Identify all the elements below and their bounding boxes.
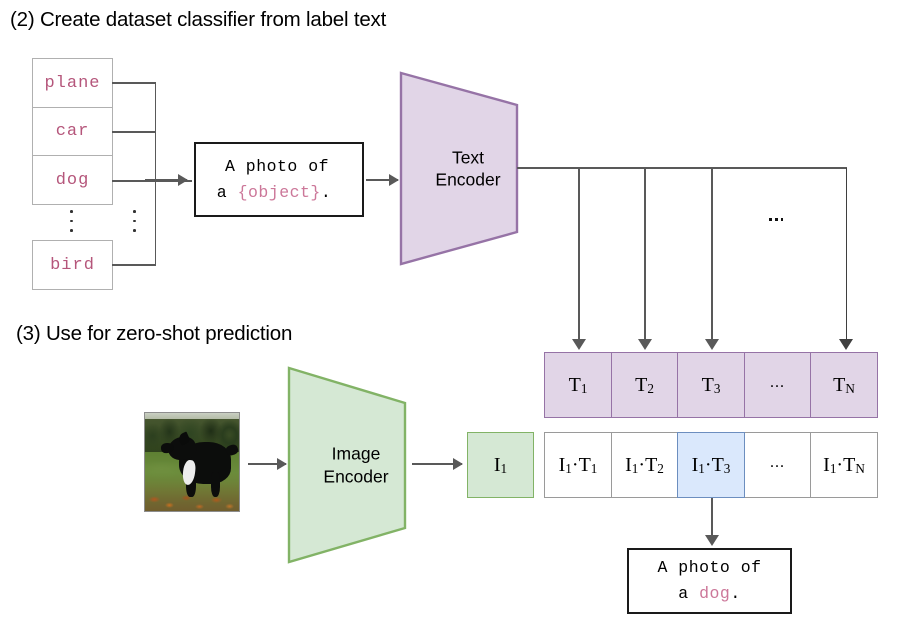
image-embedding-symbol: I — [494, 454, 501, 477]
cell-subscript: 2 — [647, 381, 654, 397]
photo-dog-leg — [211, 472, 220, 497]
arrow-similarity-to-prediction — [711, 498, 713, 536]
cell-right-sub: N — [855, 461, 865, 477]
text-encoder-label-line2: Encoder — [416, 169, 520, 192]
text-embedding-cell-ellipsis: ... — [744, 352, 812, 418]
cell-right: T — [579, 454, 591, 477]
arrow-labels-to-prompt — [145, 179, 187, 181]
label-list-ellipsis-right — [133, 210, 136, 232]
prediction-box: A photo of a dog. — [627, 548, 792, 614]
image-encoder-label-line2: Encoder — [304, 465, 408, 488]
dot — [70, 229, 73, 232]
cell-op: · — [638, 454, 645, 477]
cell-ellipsis: ... — [770, 374, 785, 392]
cell-left-sub: 1 — [632, 461, 639, 477]
prompt-line-2: a {object}. — [217, 180, 331, 206]
cell-right-sub: 1 — [591, 461, 598, 477]
prediction-prefix: a — [678, 584, 699, 603]
text-encoder-output-bus — [517, 167, 847, 169]
cell-ellipsis: ... — [770, 454, 785, 472]
prediction-line-2: a dog. — [678, 581, 740, 607]
prediction-suffix: . — [730, 584, 740, 603]
dot — [781, 218, 784, 221]
label-text: plane — [44, 74, 100, 93]
similarity-cell-ellipsis: ... — [744, 432, 812, 498]
image-encoder-label: Image Encoder — [286, 442, 408, 488]
image-encoder-shape: Image Encoder — [286, 365, 408, 565]
cell-left: I — [692, 454, 699, 477]
prompt-template-box: A photo of a {object}. — [194, 142, 364, 217]
cell-right: T — [645, 454, 657, 477]
label-connector-plane — [112, 82, 156, 84]
prompt-line-1: A photo of — [225, 154, 329, 180]
cell-symbol: T — [569, 374, 581, 397]
arrow-bus-to-t2 — [644, 168, 646, 340]
prediction-word: dog — [699, 584, 730, 603]
text-encoder-shape: Text Encoder — [398, 70, 520, 267]
arrow-image-encoder-to-embedding — [412, 463, 462, 465]
label-bus-spine-lower — [155, 131, 157, 266]
label-connector-bird — [112, 264, 156, 266]
cell-right-sub: 2 — [657, 461, 664, 477]
text-encoder-label-line1: Text — [416, 146, 520, 169]
arrow-bus-to-tn — [846, 168, 848, 340]
cell-left: I — [823, 454, 830, 477]
text-embedding-cell: T2 — [611, 352, 679, 418]
label-box-bird: bird — [32, 240, 113, 290]
bus-ellipsis — [769, 218, 783, 221]
arrow-bus-to-t3 — [711, 168, 713, 340]
image-embedding-subscript: 1 — [501, 461, 508, 477]
cell-right: T — [712, 454, 724, 477]
image-embedding-box: I1 — [467, 432, 534, 498]
dot — [70, 210, 73, 213]
image-encoder-label-line1: Image — [304, 442, 408, 465]
dot — [133, 220, 136, 223]
text-embedding-cell: TN — [810, 352, 878, 418]
similarity-cell-highlighted: I1·T3 — [677, 432, 745, 498]
label-box-plane: plane — [32, 58, 113, 108]
cell-op: · — [572, 454, 579, 477]
cell-left: I — [559, 454, 566, 477]
cell-subscript: 1 — [581, 381, 588, 397]
label-box-car: car — [32, 107, 113, 157]
similarity-cell: I1·TN — [810, 432, 878, 498]
cell-left-sub: 1 — [565, 461, 572, 477]
text-embedding-cell: T3 — [677, 352, 745, 418]
dot — [775, 218, 778, 221]
text-encoder-label: Text Encoder — [398, 146, 520, 192]
cell-symbol: T — [635, 374, 647, 397]
prompt-suffix: . — [321, 183, 331, 202]
label-connector-car — [112, 131, 156, 133]
similarity-row: I1·T1 I1·T2 I1·T3 ... I1·TN — [544, 432, 878, 498]
similarity-cell: I1·T1 — [544, 432, 612, 498]
cell-op: · — [705, 454, 712, 477]
text-embedding-cell: T1 — [544, 352, 612, 418]
cell-left-sub: 1 — [698, 461, 705, 477]
cell-op: · — [836, 454, 843, 477]
cell-right-sub: 3 — [724, 461, 731, 477]
dot — [133, 210, 136, 213]
cell-symbol: T — [833, 374, 845, 397]
cell-left-sub: 1 — [830, 461, 837, 477]
arrow-photo-to-image-encoder — [248, 463, 286, 465]
similarity-cell: I1·T2 — [611, 432, 679, 498]
text-embeddings-row: T1 T2 T3 ... TN — [544, 352, 878, 418]
prediction-line-1: A photo of — [657, 555, 761, 581]
cell-right: T — [843, 454, 855, 477]
dot — [133, 229, 136, 232]
label-box-dog: dog — [32, 155, 113, 205]
label-list-ellipsis-left — [70, 210, 73, 232]
arrow-bus-to-t1 — [578, 168, 580, 340]
dot — [769, 218, 772, 221]
cell-symbol: T — [702, 374, 714, 397]
label-text: dog — [56, 171, 90, 190]
input-image-thumbnail — [144, 412, 240, 512]
dot — [70, 220, 73, 223]
label-text: car — [56, 122, 90, 141]
label-bus-spine-upper — [155, 82, 157, 132]
section-3-heading: (3) Use for zero-shot prediction — [16, 322, 292, 346]
cell-left: I — [625, 454, 632, 477]
arrow-prompt-to-text-encoder — [366, 179, 398, 181]
section-2-heading: (2) Create dataset classifier from label… — [10, 8, 386, 32]
label-text: bird — [50, 256, 95, 275]
cell-subscript: N — [845, 381, 855, 397]
prompt-prefix: a — [217, 183, 238, 202]
prompt-placeholder: {object} — [238, 183, 321, 202]
cell-subscript: 3 — [714, 381, 721, 397]
